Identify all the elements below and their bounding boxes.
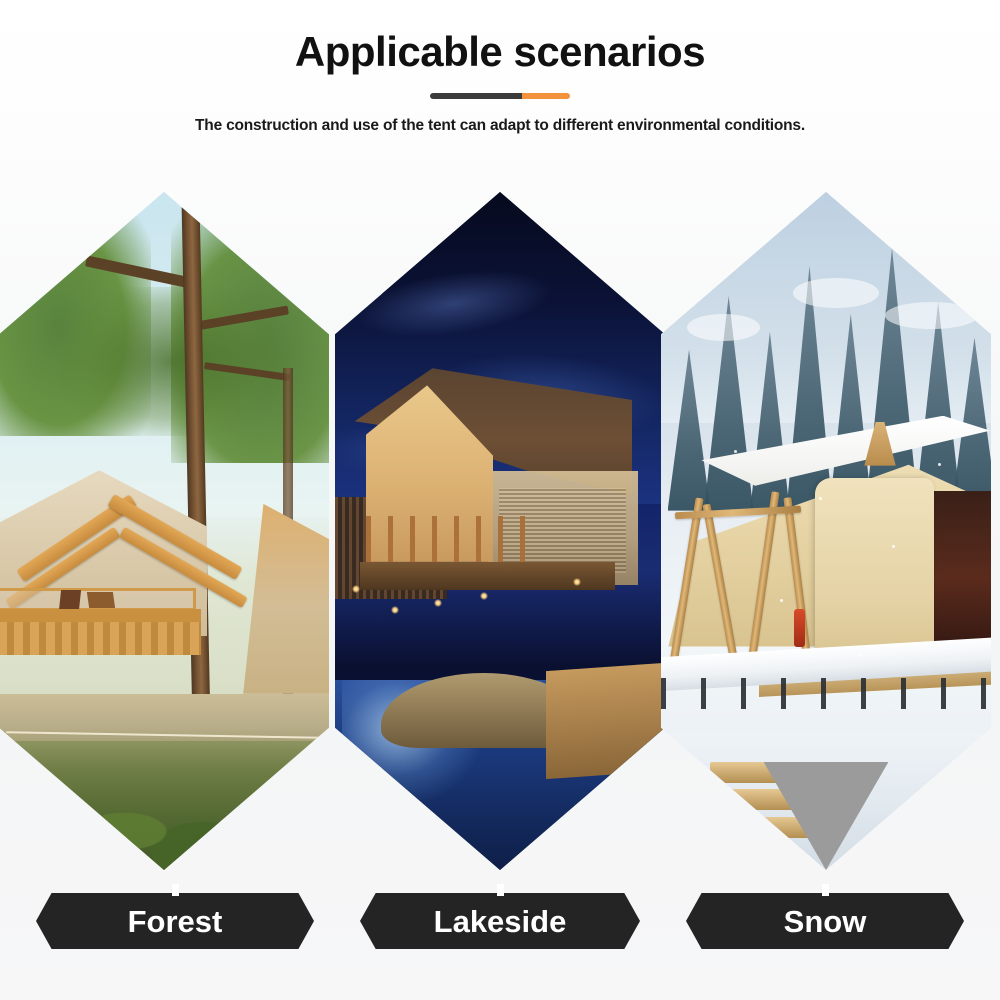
banner-connector-forest (172, 884, 179, 896)
banner-connector-snow (822, 884, 829, 896)
lakeside-scene (335, 192, 665, 870)
snowflake-icon (734, 450, 737, 453)
lakeside-illustration (335, 192, 665, 870)
fire-extinguisher-icon (794, 609, 804, 646)
scenario-label-row: Forest Lakeside Snow (0, 893, 1000, 949)
banner-connector-lakeside (497, 884, 504, 896)
lakeside-lamp-icon (434, 599, 442, 607)
title-divider (430, 93, 570, 99)
forest-canopy-top-icon (58, 287, 289, 436)
lakeside-lamp-icon (352, 585, 360, 593)
snow-scene (661, 192, 991, 870)
snow-cap (793, 278, 879, 308)
scenario-label-lakeside: Lakeside (434, 906, 567, 937)
snowflake-icon (780, 599, 783, 602)
snow-cap (885, 302, 977, 329)
scenario-image-forest[interactable] (0, 192, 329, 870)
lakeside-lamp-icon (391, 606, 399, 614)
divider-accent-segment (522, 93, 570, 99)
page-subtitle: The construction and use of the tent can… (0, 117, 1000, 135)
forest-grass (0, 741, 329, 870)
scenario-banner-snow[interactable]: Snow (686, 893, 964, 949)
snow-tent-icon (661, 416, 991, 728)
divider-dark-segment (430, 93, 522, 99)
scenario-banner-lakeside[interactable]: Lakeside (360, 893, 640, 949)
scenario-image-snow[interactable] (661, 192, 991, 870)
lakeside-platform (360, 562, 615, 590)
forest-deck-posts (0, 622, 201, 654)
scenario-label-forest: Forest (128, 906, 223, 937)
snow-cap (687, 314, 760, 341)
scenario-image-lakeside[interactable] (335, 192, 665, 870)
lakeside-wooden-deck (546, 662, 665, 779)
forest-illustration (0, 192, 329, 870)
page-title: Applicable scenarios (0, 30, 1000, 74)
forest-scene (0, 192, 329, 870)
snowflake-icon (892, 545, 895, 548)
scenario-gallery (0, 160, 1000, 890)
forest-chair-icon (87, 592, 115, 608)
snow-illustration (661, 192, 991, 870)
scenario-label-snow: Snow (784, 906, 867, 937)
page-header: Applicable scenarios The construction an… (0, 0, 1000, 135)
forest-tent-icon (0, 456, 270, 687)
scenario-banner-forest[interactable]: Forest (36, 893, 314, 949)
snow-platform-legs (661, 678, 991, 709)
